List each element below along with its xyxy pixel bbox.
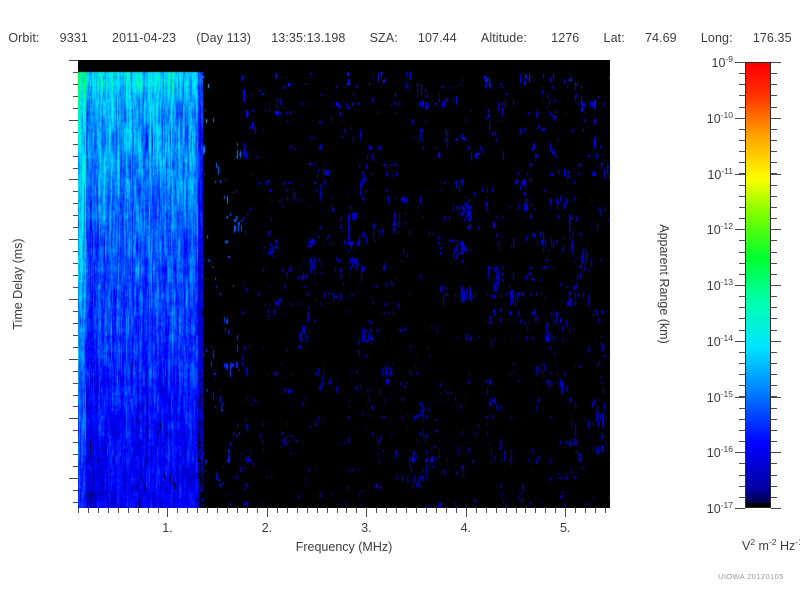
y-tick-minor <box>73 96 78 97</box>
x-tick-minor <box>406 508 407 513</box>
x-tick-minor <box>108 508 109 513</box>
x-tick-minor <box>187 508 188 513</box>
x-tick-minor <box>555 508 556 513</box>
colorbar-tick-minor <box>771 84 777 85</box>
colorbar-tick-minor <box>771 330 777 331</box>
colorbar-tick-minor <box>771 307 777 308</box>
x-tick-minor <box>496 508 497 513</box>
colorbar-tick-minor <box>771 118 777 119</box>
colorbar-tick-minor <box>771 240 777 241</box>
y-tick-minor <box>73 227 78 228</box>
x-tick-minor <box>327 508 328 513</box>
colorbar-tick-major <box>735 397 745 398</box>
colorbar-tick-minor <box>771 441 777 442</box>
colorbar-tick-minor <box>771 385 777 386</box>
colorbar-tick-minor <box>771 196 777 197</box>
colorbar-tick-minor <box>771 73 777 74</box>
y-tick-minor <box>73 383 78 384</box>
y-tick-minor <box>73 359 78 360</box>
colorbar-tick-major <box>735 174 745 175</box>
x-tick-minor <box>257 508 258 513</box>
x-tick-minor <box>346 508 347 513</box>
sza-value: 107.44 <box>418 31 457 45</box>
x-tick-minor <box>356 508 357 513</box>
x-tick-label: 4. <box>461 521 471 535</box>
x-tick-label: 3. <box>361 521 371 535</box>
y-tick-minor <box>73 72 78 73</box>
colorbar-tick-minor <box>771 162 777 163</box>
observation-date: 2011-04-23 <box>112 31 176 45</box>
colorbar-tick-minor <box>771 263 777 264</box>
x-tick-minor <box>78 508 79 513</box>
colorbar-tick-major <box>771 229 781 230</box>
colorbar-tick-minor <box>771 363 777 364</box>
x-tick-minor <box>287 508 288 513</box>
colorbar-tick-major <box>735 62 745 63</box>
x-tick-minor <box>177 508 178 513</box>
y-tick-minor <box>73 60 78 61</box>
colorbar-tick-minor <box>771 463 777 464</box>
y-tick-minor <box>73 490 78 491</box>
x-tick-label: 5. <box>560 521 570 535</box>
colorbar-tick-minor <box>771 151 777 152</box>
y-tick-minor <box>73 442 78 443</box>
x-tick-minor <box>118 508 119 513</box>
x-axis-frequency: 1.2.3.4.5. <box>0 508 800 568</box>
y-tick-minor <box>73 179 78 180</box>
y-tick-minor <box>73 144 78 145</box>
colorbar-gradient <box>746 63 770 507</box>
x-tick-label: 1. <box>162 521 172 535</box>
colorbar-tick-minor <box>771 140 777 141</box>
y-tick-minor <box>73 120 78 121</box>
x-tick-minor <box>247 508 248 513</box>
x-tick-minor <box>575 508 576 513</box>
colorbar-tick-minor <box>771 274 777 275</box>
y-tick-minor <box>73 251 78 252</box>
x-tick-minor <box>366 508 367 513</box>
x-tick-minor <box>138 508 139 513</box>
colorbar <box>745 62 771 508</box>
colorbar-tick-minor <box>771 185 777 186</box>
y-tick-minor <box>73 275 78 276</box>
x-tick-minor <box>337 508 338 513</box>
x-tick-minor <box>207 508 208 513</box>
y-tick-minor <box>73 108 78 109</box>
y-tick-minor <box>73 406 78 407</box>
colorbar-tick-minor <box>771 486 777 487</box>
x-tick-minor <box>297 508 298 513</box>
colorbar-tick-minor <box>771 173 777 174</box>
sza-label: SZA: <box>370 31 398 45</box>
x-tick-minor <box>128 508 129 513</box>
x-tick-minor <box>167 508 168 513</box>
colorbar-tick-major <box>771 174 781 175</box>
colorbar-tick-major <box>735 341 745 342</box>
colorbar-tick-minor <box>771 408 777 409</box>
colorbar-tick-minor <box>771 318 777 319</box>
colorbar-units-label: V2 m-2 Hz-1 <box>742 537 800 553</box>
colorbar-tick-minor <box>771 285 777 286</box>
y-tick-minor <box>73 466 78 467</box>
x-tick-minor <box>376 508 377 513</box>
x-tick-minor <box>525 508 526 513</box>
y-tick-minor <box>73 263 78 264</box>
y-tick-minor <box>73 239 78 240</box>
y-tick-minor <box>73 395 78 396</box>
x-tick-minor <box>446 508 447 513</box>
x-tick-minor <box>98 508 99 513</box>
y-tick-minor <box>73 502 78 503</box>
x-tick-minor <box>436 508 437 513</box>
y-tick-minor <box>73 478 78 479</box>
y-tick-minor <box>73 430 78 431</box>
colorbar-tick-minor <box>771 374 777 375</box>
colorbar-tick-major <box>735 229 745 230</box>
y-tick-minor <box>73 335 78 336</box>
y-tick-minor <box>73 287 78 288</box>
x-tick-minor <box>148 508 149 513</box>
x-tick-minor <box>267 508 268 513</box>
long-value: 176.35 <box>753 31 792 45</box>
colorbar-tick-minor <box>771 229 777 230</box>
colorbar-tick-minor <box>771 218 777 219</box>
y-tick-minor <box>73 84 78 85</box>
y-tick-minor <box>73 311 78 312</box>
colorbar-tick-minor <box>771 296 777 297</box>
colorbar-tick-minor <box>771 475 777 476</box>
x-tick-minor <box>516 508 517 513</box>
colorbar-tick-major <box>771 341 781 342</box>
x-tick-minor <box>506 508 507 513</box>
y-tick-minor <box>73 215 78 216</box>
x-tick-minor <box>486 508 487 513</box>
colorbar-tick-minor <box>771 497 777 498</box>
heatmap-canvas <box>78 60 610 508</box>
x-tick-minor <box>307 508 308 513</box>
colorbar-tick-major <box>735 285 745 286</box>
y-tick-minor <box>73 191 78 192</box>
x-tick-minor <box>396 508 397 513</box>
colorbar-tick-minor <box>771 95 777 96</box>
y-tick-minor <box>73 347 78 348</box>
colorbar-tick-major <box>771 397 781 398</box>
x-tick-minor <box>456 508 457 513</box>
x-tick-minor <box>535 508 536 513</box>
colorbar-tick-minor <box>771 207 777 208</box>
y-axis-title: Time Delay (ms) <box>11 238 25 329</box>
colorbar-tick-major <box>735 118 745 119</box>
x-tick-label: 2. <box>262 521 272 535</box>
observation-time: 13:35:13.198 <box>271 31 345 45</box>
x-tick-minor <box>227 508 228 513</box>
altitude-value: 1276 <box>551 31 579 45</box>
ionogram-heatmap <box>78 60 610 508</box>
altitude-label: Altitude: <box>481 31 527 45</box>
colorbar-tick-major <box>771 285 781 286</box>
x-tick-minor <box>565 508 566 513</box>
x-tick-minor <box>237 508 238 513</box>
colorbar-tick-minor <box>771 430 777 431</box>
footer-credit: UIOWA 20120105 <box>718 572 784 581</box>
y-tick-minor <box>73 454 78 455</box>
x-tick-minor <box>605 508 606 513</box>
colorbar-tick-minor <box>771 419 777 420</box>
x-axis-title: Frequency (MHz) <box>296 540 393 554</box>
x-tick-minor <box>88 508 89 513</box>
y-tick-minor <box>73 156 78 157</box>
colorbar-tick-minor <box>771 129 777 130</box>
x-tick-minor <box>386 508 387 513</box>
y-tick-minor <box>73 132 78 133</box>
y-axis2-title: Apparent Range (km) <box>657 224 671 344</box>
y-tick-minor <box>73 203 78 204</box>
x-tick-minor <box>426 508 427 513</box>
x-tick-minor <box>197 508 198 513</box>
colorbar-tick-minor <box>771 62 777 63</box>
x-tick-minor <box>217 508 218 513</box>
colorbar-tick-minor <box>771 452 777 453</box>
y-tick-minor <box>73 371 78 372</box>
x-tick-minor <box>585 508 586 513</box>
colorbar-tick-major <box>771 62 781 63</box>
colorbar-tick-minor <box>771 341 777 342</box>
day-of-year: (Day 113) <box>196 31 251 45</box>
y-tick-minor <box>73 168 78 169</box>
x-tick-minor <box>476 508 477 513</box>
colorbar-tick-minor <box>771 107 777 108</box>
x-tick-minor <box>416 508 417 513</box>
x-tick-minor <box>158 508 159 513</box>
colorbar-tick-major <box>735 452 745 453</box>
x-tick-minor <box>277 508 278 513</box>
x-tick-minor <box>595 508 596 513</box>
ionogram-figure: Orbit: 9331 2011-04-23 (Day 113) 13:35:1… <box>0 0 800 600</box>
y-tick-minor <box>73 323 78 324</box>
x-tick-minor <box>466 508 467 513</box>
colorbar-tick-minor <box>771 396 777 397</box>
y-tick-minor <box>73 418 78 419</box>
colorbar-tick-minor <box>771 352 777 353</box>
colorbar-tick-minor <box>771 252 777 253</box>
colorbar-tick-major <box>771 118 781 119</box>
x-tick-minor <box>317 508 318 513</box>
colorbar-tick-major <box>771 452 781 453</box>
y-tick-minor <box>73 299 78 300</box>
x-tick-minor <box>545 508 546 513</box>
